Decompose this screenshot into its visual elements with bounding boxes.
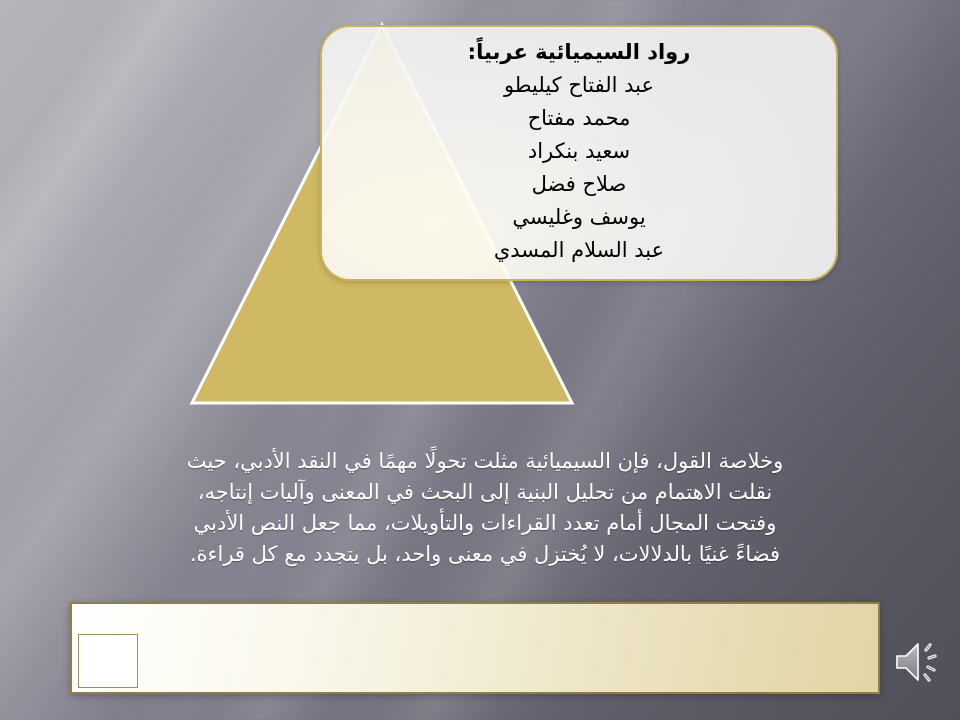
- paragraph-line-4: فضاءً غنيًا بالدلالات، لا يُختزل في معنى…: [70, 539, 900, 570]
- paragraph-line-1: وخلاصة القول، فإن السيميائية مثلت تحولًا…: [70, 446, 900, 477]
- names-card-title: رواد السيميائية عربياً:: [468, 36, 691, 69]
- name-item-5: يوسف وغليسي: [512, 201, 645, 234]
- names-card: رواد السيميائية عربياً: عبد الفتاح كيليط…: [320, 25, 838, 281]
- slide-canvas: رواد السيميائية عربياً: عبد الفتاح كيليط…: [0, 0, 960, 720]
- name-item-4: صلاح فضل: [532, 168, 627, 201]
- name-item-3: سعيد بنكراد: [528, 135, 630, 168]
- name-item-2: محمد مفتاح: [528, 102, 631, 135]
- footer-bar-inner-box: [78, 634, 138, 688]
- speaker-icon[interactable]: [893, 634, 949, 690]
- name-item-6: عبد السلام المسدي: [494, 234, 664, 267]
- paragraph-line-3: وفتحت المجال أمام تعدد القراءات والتأويل…: [70, 508, 900, 539]
- paragraph-line-2: نقلت الاهتمام من تحليل البنية إلى البحث …: [70, 477, 900, 508]
- name-item-1: عبد الفتاح كيليطو: [504, 69, 654, 102]
- conclusion-paragraph: وخلاصة القول، فإن السيميائية مثلت تحولًا…: [70, 446, 900, 570]
- footer-bar: [70, 602, 880, 694]
